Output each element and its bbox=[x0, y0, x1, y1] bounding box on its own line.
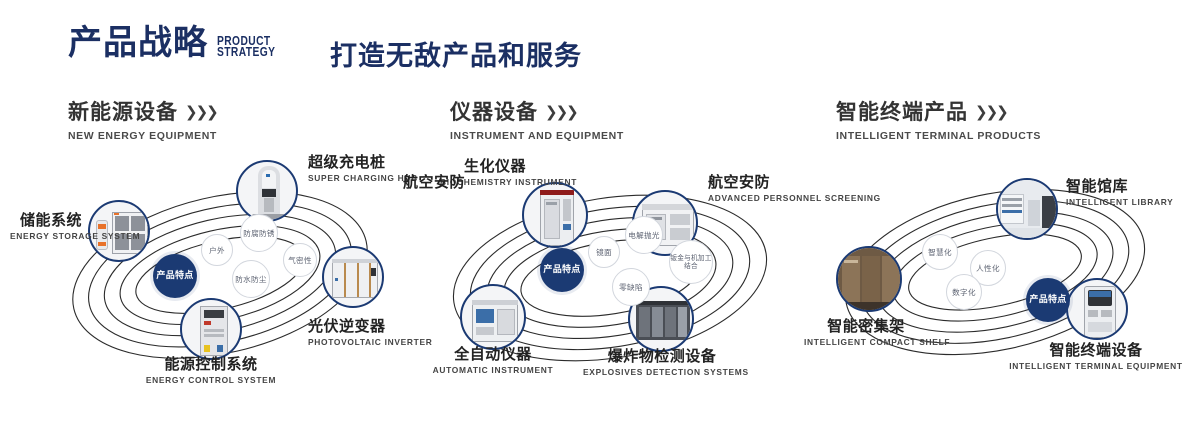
section-title-cn: 智能终端产品 bbox=[836, 100, 968, 124]
node-label-explosives-detection: 爆炸物检测设备 EXPLOSIVES DETECTION SYSTEMS bbox=[583, 348, 741, 377]
poster-title-en-line2: STRATEGY bbox=[217, 47, 275, 58]
section-title-new-energy: 新能源设备❯❯❯ NEW ENERGY EQUIPMENT bbox=[68, 96, 217, 142]
feature-bubble-anticorrosion[interactable]: 防腐防锈 bbox=[240, 214, 278, 252]
core-bubble-product-features[interactable]: 产品特点 bbox=[540, 248, 584, 292]
diagram-group-intelligent-terminal: 智能馆库 INTELLIGENT LIBRARY 智能密集架 INTELLIGE… bbox=[810, 150, 1180, 400]
node-circle-automatic-instrument[interactable] bbox=[460, 284, 526, 350]
section-title-cn: 新能源设备 bbox=[68, 100, 178, 124]
node-label-photovoltaic-inverter: 光伏逆变器 PHOTOVOLTAIC INVERTER bbox=[308, 318, 433, 347]
section-title-en: INSTRUMENT AND EQUIPMENT bbox=[450, 130, 624, 142]
feature-bubble-digitalization[interactable]: 数字化 bbox=[946, 274, 982, 310]
node-circle-intelligent-terminal-equipment[interactable] bbox=[1066, 278, 1128, 340]
section-title-en: NEW ENERGY EQUIPMENT bbox=[68, 130, 217, 142]
core-bubble-product-features[interactable]: 产品特点 bbox=[153, 254, 197, 298]
section-title-instrument: 仪器设备❯❯❯ INSTRUMENT AND EQUIPMENT bbox=[450, 96, 624, 142]
core-bubble-product-features[interactable]: 产品特点 bbox=[1026, 278, 1070, 322]
node-label-automatic-instrument: 全自动仪器 AUTOMATIC INSTRUMENT bbox=[417, 346, 569, 375]
poster-title-cn: 产品战略 bbox=[68, 26, 208, 60]
node-circle-intelligent-compact-shelf[interactable] bbox=[836, 246, 902, 312]
photo-intelligent-library bbox=[998, 180, 1056, 238]
photo-biochemistry-instrument bbox=[524, 184, 586, 246]
node-circle-intelligent-library[interactable] bbox=[996, 178, 1058, 240]
feature-bubble-zero-defect[interactable]: 零缺陷 bbox=[612, 268, 650, 306]
feature-bubble-waterproof[interactable]: 防水防尘 bbox=[232, 260, 270, 298]
node-label-intelligent-compact-shelf: 智能密集架 INTELLIGENT COMPACT SHELF bbox=[804, 318, 928, 347]
chevron-right-triple-icon: ❯❯❯ bbox=[545, 103, 577, 121]
section-title-en: INTELLIGENT TERMINAL PRODUCTS bbox=[836, 130, 1041, 142]
feature-bubble-electropolishing[interactable]: 电解抛光 bbox=[625, 216, 663, 254]
node-label-aviation-security-left: 航空安防 bbox=[390, 174, 465, 191]
poster-subtitle: 打造无敌产品和服务 bbox=[330, 34, 582, 73]
diagram-group-new-energy: 储能系统 ENERGY STORAGE SYSTEM 超级充电桩 SUPER C… bbox=[40, 150, 400, 400]
photo-intelligent-terminal-equipment bbox=[1068, 280, 1126, 338]
node-label-energy-control-system: 能源控制系统 ENERGY CONTROL SYSTEM bbox=[128, 356, 294, 385]
node-label-intelligent-library: 智能馆库 INTELLIGENT LIBRARY bbox=[1066, 178, 1173, 207]
section-title-cn: 仪器设备 bbox=[450, 100, 538, 124]
feature-bubble-sheetmetal-machining[interactable]: 钣金与机加工结合 bbox=[669, 240, 713, 284]
node-label-energy-storage: 储能系统 ENERGY STORAGE SYSTEM bbox=[10, 212, 82, 241]
node-circle-photovoltaic-inverter[interactable] bbox=[322, 246, 384, 308]
section-title-intelligent-terminal: 智能终端产品❯❯❯ INTELLIGENT TERMINAL PRODUCTS bbox=[836, 96, 1041, 142]
photo-photovoltaic-inverter bbox=[324, 248, 382, 306]
feature-bubble-airtightness[interactable]: 气密性 bbox=[283, 243, 317, 277]
photo-energy-control-system bbox=[182, 300, 240, 358]
poster-header: 产品战略 PRODUCT STRATEGY bbox=[68, 26, 288, 60]
node-circle-super-charging-hub[interactable] bbox=[236, 160, 298, 222]
node-circle-energy-control-system[interactable] bbox=[180, 298, 242, 360]
chevron-right-triple-icon: ❯❯❯ bbox=[975, 103, 1007, 121]
diagram-group-instrument: 生化仪器 BIOCHEMISTRY INSTRUMENT 航空安防 航空安防 A… bbox=[420, 150, 800, 400]
photo-super-charging-hub bbox=[238, 162, 296, 220]
poster-title-en: PRODUCT STRATEGY bbox=[217, 36, 275, 58]
poster-canvas: 产品战略 PRODUCT STRATEGY 打造无敌产品和服务 新能源设备❯❯❯… bbox=[0, 0, 1200, 422]
photo-automatic-instrument bbox=[462, 286, 524, 348]
node-circle-biochemistry-instrument[interactable] bbox=[522, 182, 588, 248]
feature-bubble-outdoor[interactable]: 户外 bbox=[201, 234, 233, 266]
feature-bubble-mirror-finish[interactable]: 镜面 bbox=[588, 236, 620, 268]
photo-intelligent-compact-shelf bbox=[838, 248, 900, 310]
chevron-right-triple-icon: ❯❯❯ bbox=[185, 103, 217, 121]
node-label-intelligent-terminal-equipment: 智能终端设备 INTELLIGENT TERMINAL EQUIPMENT bbox=[1008, 342, 1184, 371]
feature-bubble-intelligence[interactable]: 智慧化 bbox=[922, 234, 958, 270]
